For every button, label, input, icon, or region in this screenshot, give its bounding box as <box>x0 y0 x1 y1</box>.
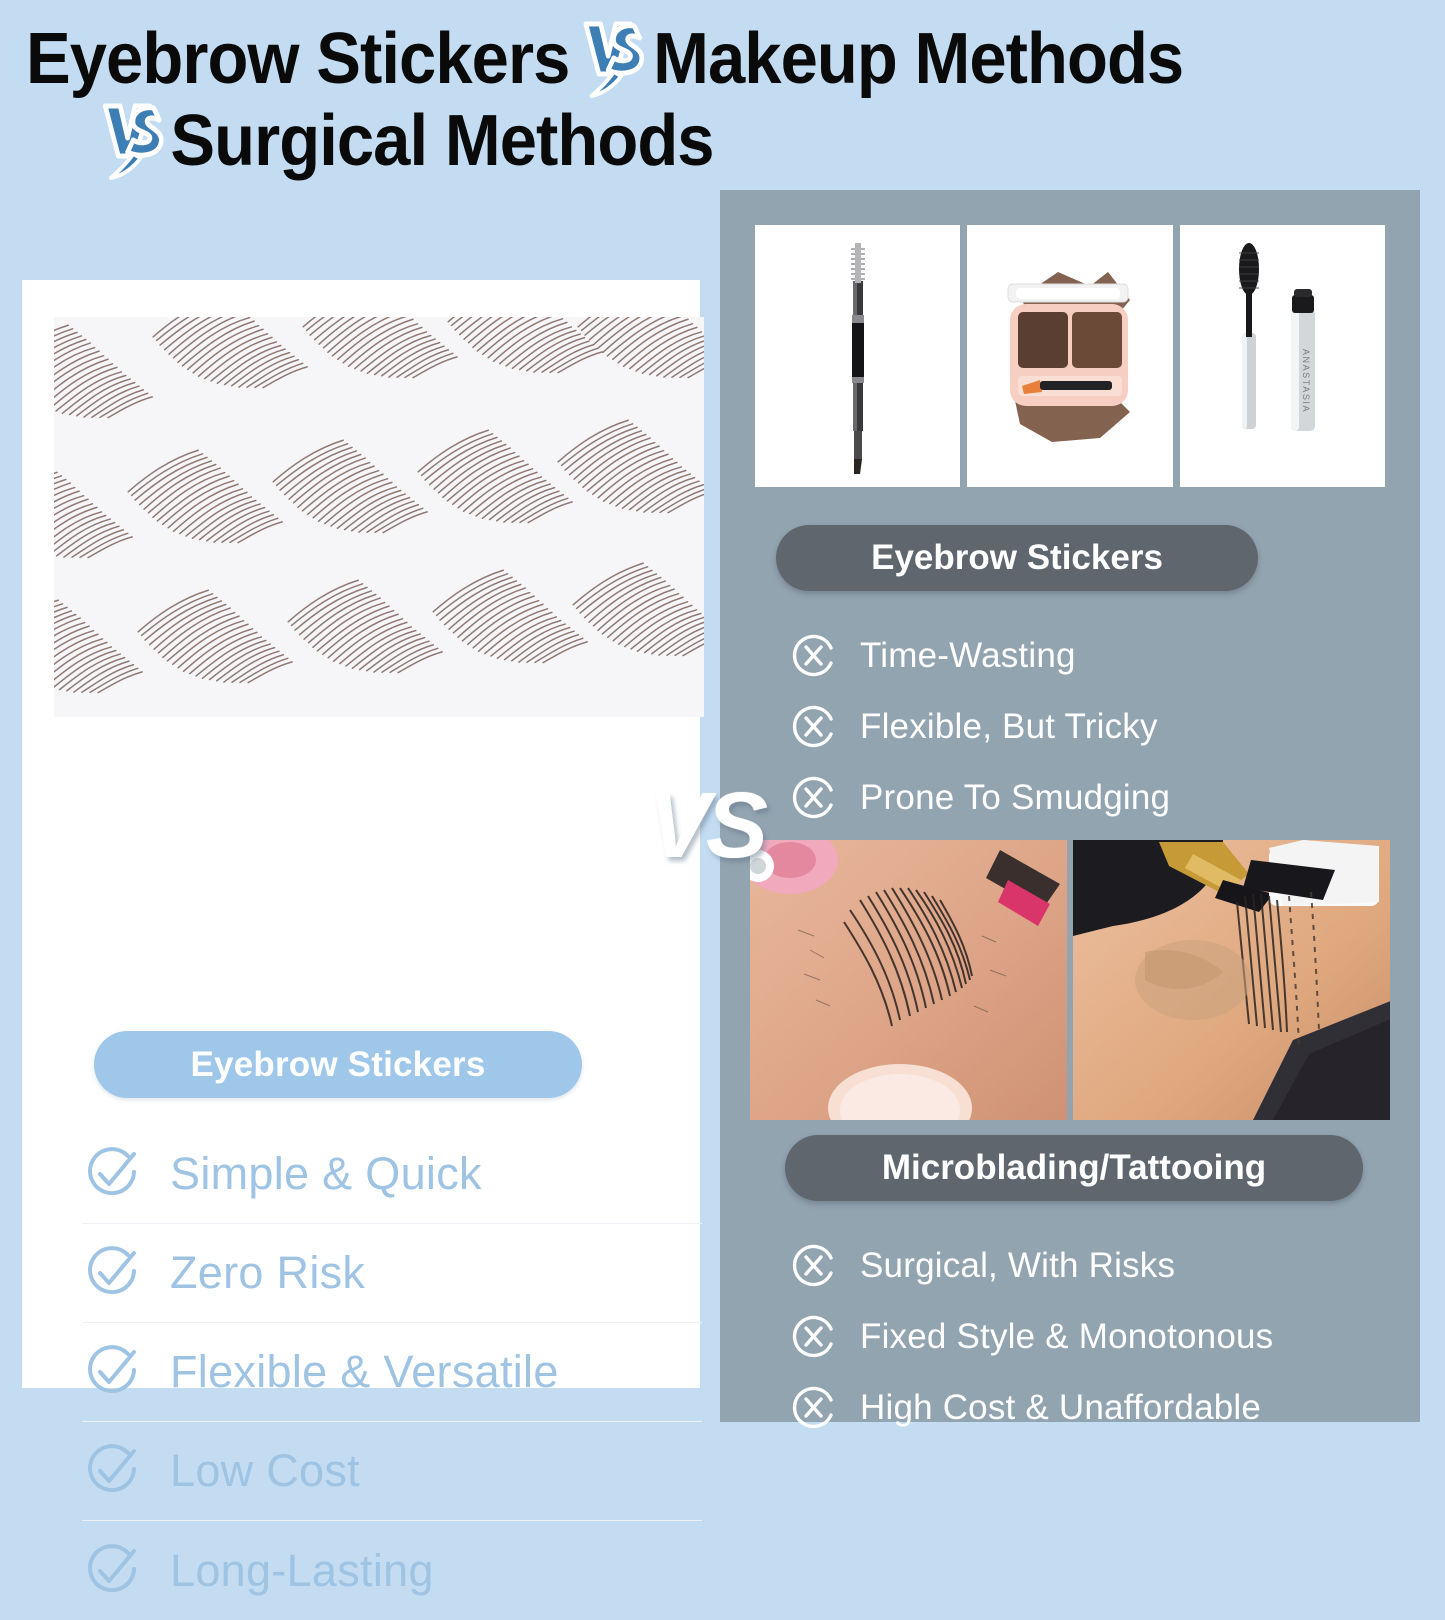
list-item-label: Flexible, But Tricky <box>860 707 1158 747</box>
x-circle-icon <box>790 1384 837 1431</box>
left-comparison-card: Eyebrow Stickers Simple & Quick Zero Ris… <box>22 280 700 1388</box>
left-benefits-list: Simple & Quick Zero Risk Flexible & Vers… <box>82 1125 702 1620</box>
list-item: High Cost & Unaffordable <box>790 1372 1273 1443</box>
list-item-label: Low Cost <box>170 1445 360 1497</box>
list-item-label: Flexible & Versatile <box>170 1346 559 1398</box>
list-item: Flexible & Versatile <box>82 1323 702 1422</box>
check-circle-icon <box>82 1144 142 1204</box>
list-item: Long-Lasting <box>82 1521 702 1620</box>
right-pill-label: Eyebrow Stickers <box>871 538 1163 578</box>
check-circle-icon <box>82 1243 142 1303</box>
x-circle-icon <box>790 632 837 679</box>
title-line-1: Eyebrow Stickers Makeup Methods <box>26 16 1183 102</box>
check-circle-icon <box>82 1342 142 1402</box>
microblading-procedure-photo-left <box>750 840 1067 1120</box>
right-pill-eyebrow-stickers: Eyebrow Stickers <box>776 525 1258 591</box>
makeup-products-row: ANASTASIA <box>755 225 1385 487</box>
vs-logo-icon <box>96 98 169 184</box>
vs-logo-icon <box>577 16 650 102</box>
list-item-label: Prone To Smudging <box>860 778 1170 818</box>
list-item: Simple & Quick <box>82 1125 702 1224</box>
right-pill-label: Microblading/Tattooing <box>882 1148 1266 1188</box>
list-item: Surgical, With Risks <box>790 1230 1273 1301</box>
check-circle-icon <box>82 1541 142 1601</box>
center-vs-badge: VS <box>648 772 764 879</box>
list-item-label: Zero Risk <box>170 1247 365 1299</box>
x-circle-icon <box>790 1242 837 1289</box>
title-text-surgical-methods: Surgical Methods <box>170 100 713 182</box>
brow-pencil-product-photo <box>755 225 960 487</box>
list-item: Flexible, But Tricky <box>790 691 1170 762</box>
list-item-label: Surgical, With Risks <box>860 1246 1175 1286</box>
brow-gel-tube-product-photo: ANASTASIA <box>1180 225 1385 487</box>
list-item: Fixed Style & Monotonous <box>790 1301 1273 1372</box>
x-circle-icon <box>790 774 837 821</box>
list-item-label: Fixed Style & Monotonous <box>860 1317 1273 1357</box>
svg-text:ANASTASIA: ANASTASIA <box>1301 349 1311 413</box>
x-circle-icon <box>790 1313 837 1360</box>
list-item-label: High Cost & Unaffordable <box>860 1388 1261 1428</box>
title-text-eyebrow-stickers: Eyebrow Stickers <box>26 18 569 100</box>
title-line-2: Surgical Methods <box>96 98 714 184</box>
microblading-procedure-photos-row <box>750 840 1390 1120</box>
page-header: Eyebrow Stickers Makeup Methods <box>0 0 1445 190</box>
title-text-makeup-methods: Makeup Methods <box>653 18 1183 100</box>
right-drawbacks-list-top: Time-Wasting Flexible, But Tricky Prone … <box>790 620 1170 833</box>
list-item-label: Simple & Quick <box>170 1148 482 1200</box>
left-pill-label: Eyebrow Stickers <box>190 1045 485 1085</box>
list-item: Time-Wasting <box>790 620 1170 691</box>
brow-powder-compact-product-photo <box>967 225 1172 487</box>
check-circle-icon <box>82 1441 142 1501</box>
x-circle-icon <box>790 703 837 750</box>
list-item: Low Cost <box>82 1422 702 1521</box>
list-item-label: Time-Wasting <box>860 636 1076 676</box>
right-comparison-panel: ANASTASIA Eyebrow Stickers Time-Wasting <box>720 190 1420 1422</box>
list-item: Prone To Smudging <box>790 762 1170 833</box>
list-item: Zero Risk <box>82 1224 702 1323</box>
tattooing-procedure-photo-right <box>1073 840 1390 1120</box>
eyebrow-sticker-sheet-photo <box>54 317 704 717</box>
list-item-label: Long-Lasting <box>170 1545 434 1597</box>
left-pill-eyebrow-stickers: Eyebrow Stickers <box>94 1031 582 1098</box>
right-drawbacks-list-bottom: Surgical, With Risks Fixed Style & Monot… <box>790 1230 1273 1443</box>
right-pill-microblading-tattooing: Microblading/Tattooing <box>785 1135 1363 1201</box>
